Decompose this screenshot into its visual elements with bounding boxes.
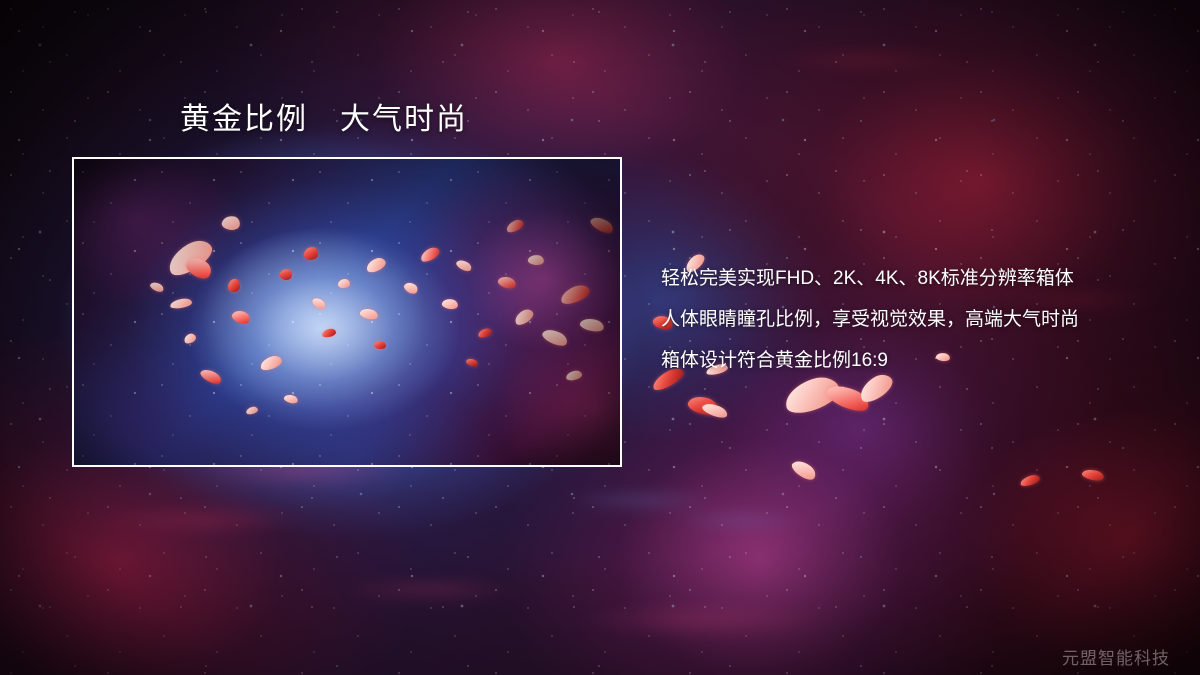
presentation-slide: 黄金比例 大气时尚 轻松完美实现FHD、2K、4K、8K标准分辨率箱体 人体眼睛… — [0, 0, 1200, 675]
galaxy-photo-frame — [72, 157, 622, 467]
petal — [789, 457, 818, 484]
petal — [824, 380, 872, 416]
watermark: 元盟智能科技 — [1062, 648, 1170, 670]
petal — [1019, 473, 1041, 487]
photo-vignette — [74, 159, 620, 465]
body-text-block: 轻松完美实现FHD、2K、4K、8K标准分辨率箱体 人体眼睛瞳孔比例，享受视觉效… — [661, 258, 1181, 381]
slide-title: 黄金比例 大气时尚 — [180, 101, 468, 139]
petal — [701, 401, 729, 421]
body-line-3: 箱体设计符合黄金比例16:9 — [661, 340, 1181, 381]
body-line-1: 轻松完美实现FHD、2K、4K、8K标准分辨率箱体 — [661, 258, 1181, 299]
body-line-2: 人体眼睛瞳孔比例，享受视觉效果，高端大气时尚 — [661, 299, 1181, 340]
petal — [686, 393, 720, 418]
petal — [1081, 467, 1105, 482]
galaxy-photo — [74, 159, 620, 465]
